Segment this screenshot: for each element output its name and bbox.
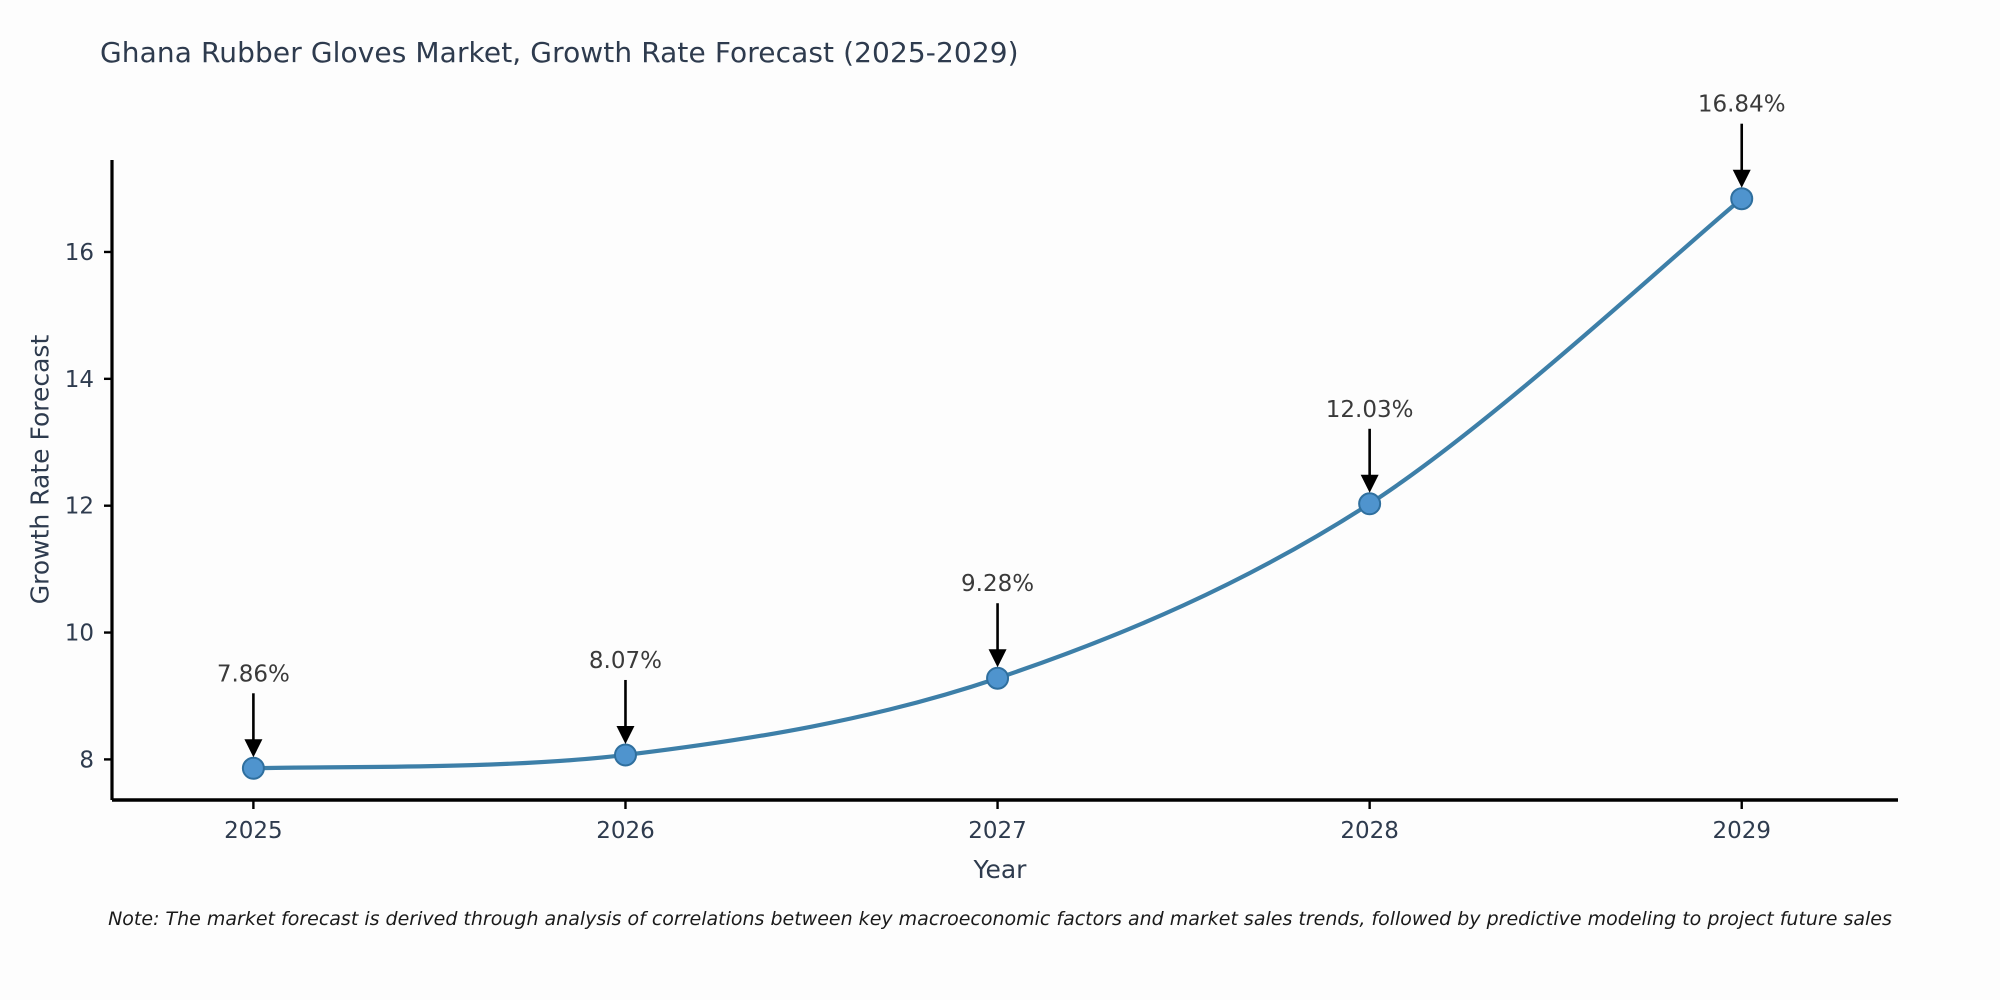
chart-footnote: Note: The market forecast is derived thr… xyxy=(0,908,2000,930)
data-point-label: 12.03% xyxy=(1326,397,1414,423)
data-point-annotations: 7.86%8.07%9.28%12.03%16.84% xyxy=(217,92,1786,758)
x-tick-label: 2028 xyxy=(1340,818,1399,844)
x-tick-labels: 20252026202720282029 xyxy=(224,800,1771,844)
data-point-marker[interactable] xyxy=(243,758,264,779)
data-point-marker[interactable] xyxy=(1731,188,1752,209)
data-point-label: 8.07% xyxy=(589,648,662,674)
y-tick-label: 12 xyxy=(65,494,94,520)
data-point-marker[interactable] xyxy=(1359,493,1380,514)
x-tick-label: 2025 xyxy=(224,818,283,844)
y-tick-labels: 810121416 xyxy=(65,240,112,773)
x-tick-label: 2029 xyxy=(1712,818,1771,844)
y-tick-label: 10 xyxy=(65,621,94,647)
x-axis-title: Year xyxy=(0,855,2000,884)
y-tick-label: 16 xyxy=(65,240,94,266)
data-point-label: 16.84% xyxy=(1698,92,1786,118)
plot-area: 810121416 20252026202720282029 7.86%8.07… xyxy=(0,0,2000,1000)
data-point-marker[interactable] xyxy=(987,668,1008,689)
y-tick-label: 8 xyxy=(79,747,94,773)
x-tick-label: 2026 xyxy=(596,818,655,844)
data-point-markers[interactable] xyxy=(243,188,1752,779)
chart-figure: Ghana Rubber Gloves Market, Growth Rate … xyxy=(0,0,2000,1000)
data-point-label: 7.86% xyxy=(217,661,290,687)
y-tick-label: 14 xyxy=(65,367,94,393)
x-tick-label: 2027 xyxy=(968,818,1027,844)
data-point-marker[interactable] xyxy=(615,744,636,765)
data-point-label: 9.28% xyxy=(961,571,1034,597)
